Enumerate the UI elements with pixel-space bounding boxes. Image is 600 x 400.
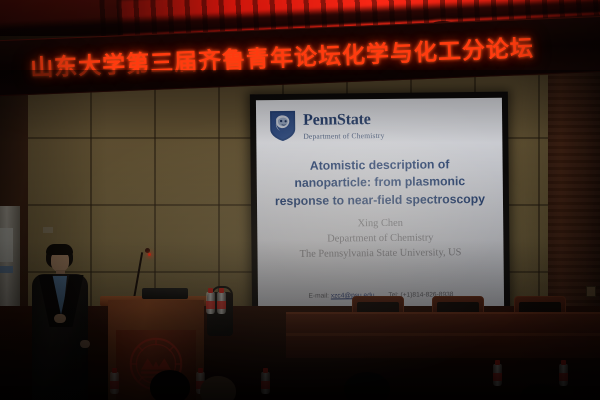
water-bottle (217, 292, 226, 314)
logo-title: PennState (303, 112, 384, 129)
water-bottle (110, 372, 119, 394)
projection-screen: PennState Department of Chemistry Atomis… (256, 98, 504, 310)
audience-head (344, 372, 390, 400)
slide-author-university: The Pennsylvania State University, US (267, 246, 493, 263)
presenter (24, 244, 100, 400)
water-bottle (206, 292, 215, 314)
email-label: E-mail: (308, 293, 329, 300)
event-banner-text: 山东大学第三届齐鲁青年论坛化学与化工分论坛 (29, 29, 534, 83)
panel-table-edge (286, 333, 600, 336)
audience-head (200, 376, 236, 400)
presentation-photo-scene: 山东大学第三届齐鲁青年论坛化学与化工分论坛 PennState Departme… (0, 0, 600, 400)
wall-outlet (586, 286, 596, 297)
slide-title-line-2: nanoparticle: from plasmonic (267, 173, 493, 193)
slide-title-line-3: response to near-field spectroscopy (267, 190, 493, 210)
microphone-led-indicator (148, 253, 151, 256)
presenter-fringe (46, 244, 73, 255)
logo-department: Department of Chemistry (303, 130, 384, 140)
slide-author-block: Xing Chen Department of Chemistry The Pe… (267, 216, 493, 263)
presenter-hand (80, 340, 90, 348)
presenter-hand (54, 314, 66, 323)
slide-title: Atomistic description of nanoparticle: f… (267, 156, 494, 210)
water-bottle (261, 372, 270, 394)
logo-text-block: PennState Department of Chemistry (303, 108, 385, 140)
audience-head (150, 370, 190, 400)
water-bottle (493, 364, 502, 386)
side-board-strip (0, 266, 13, 273)
laptop[interactable] (142, 288, 188, 299)
nittany-lion-shield-icon (269, 109, 296, 142)
side-board-panel (0, 228, 13, 262)
pennstate-logo: PennState Department of Chemistry (269, 108, 385, 142)
water-bottle (559, 364, 568, 386)
wall-switch[interactable] (43, 227, 53, 233)
projection-screen-frame: PennState Department of Chemistry Atomis… (250, 92, 510, 316)
